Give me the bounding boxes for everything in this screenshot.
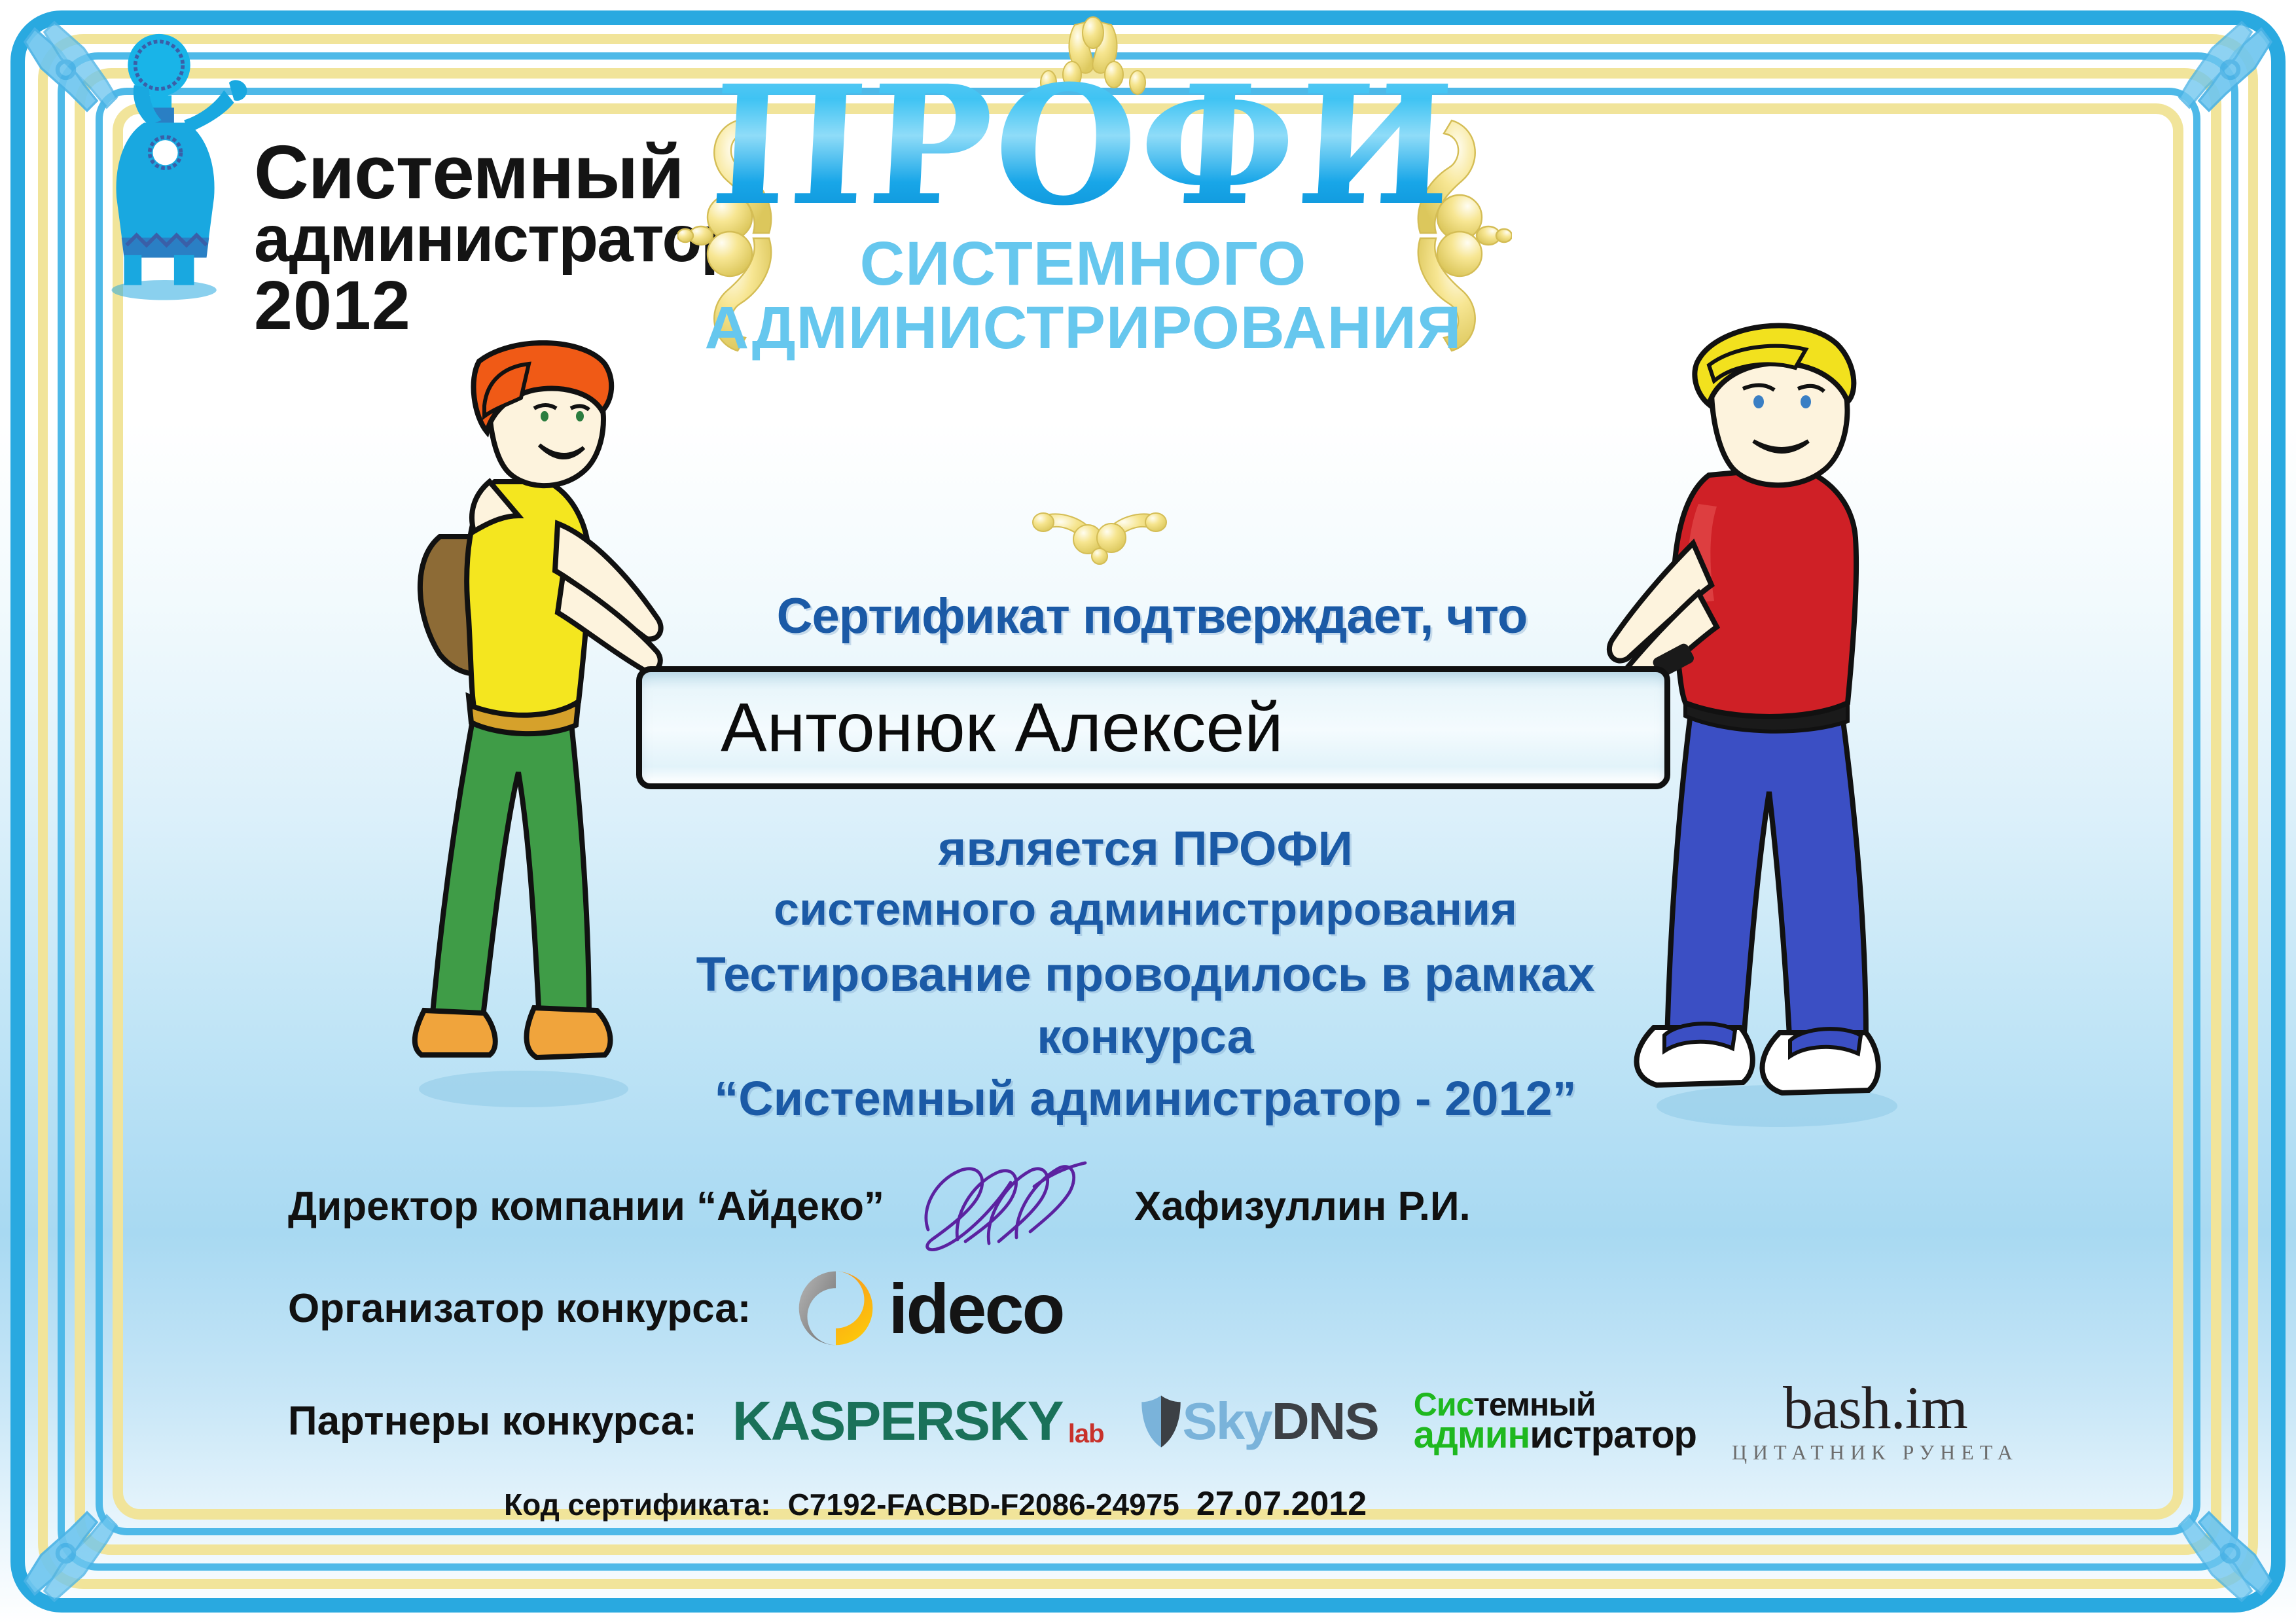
organizer-label: Организатор конкурса: (288, 1285, 751, 1332)
sysadmin-small-row2-black: истратор (1530, 1414, 1696, 1456)
skydns-wordmark-sky: Sky (1183, 1391, 1272, 1452)
certificate-heading: ПРОФИ СИСТЕМНОГО АДМИНИСТРИРОВАНИЯ (661, 62, 1505, 358)
bashim-wordmark: bash.im (1732, 1378, 2018, 1438)
heading-title: ПРОФИ (656, 62, 1509, 229)
pliers-corner-icon (12, 1444, 175, 1607)
confirm-text: Сертификат подтверждает, что (655, 588, 1649, 645)
kaspersky-wordmark: KASPERSKY (732, 1389, 1063, 1453)
signer-name: Хафизуллин Р.И. (1134, 1183, 1471, 1230)
eskimo-figure-icon (98, 33, 275, 308)
body-line-4: “Системный администратор - 2012” (589, 1068, 1702, 1130)
bashim-tagline: ЦИТАТНИК РУНЕТА (1732, 1440, 2018, 1465)
partner-logos: KASPERSKY lab Sky DNS Системный админист… (732, 1378, 2018, 1465)
code-value: C7192-FACBD-F2086-24975 (788, 1487, 1179, 1522)
recipient-name: Антонюк Алексей (642, 688, 1283, 768)
ideco-wordmark: ideco (888, 1268, 1063, 1349)
handwritten-signature-icon (899, 1157, 1115, 1255)
partners-label: Партнеры конкурса: (288, 1398, 697, 1444)
partners-row: Партнеры конкурса: KASPERSKY lab Sky DNS… (288, 1378, 2081, 1465)
body-line-1: является ПРОФИ (589, 818, 1702, 880)
skydns-wordmark-dns: DNS (1272, 1391, 1378, 1452)
kaspersky-lab-suffix: lab (1068, 1419, 1104, 1449)
shield-icon (1139, 1393, 1183, 1450)
recipient-name-box: Антонюк Алексей (636, 666, 1670, 789)
gold-ornament-bottom-icon (1028, 497, 1172, 569)
code-label: Код сертификата: (504, 1487, 771, 1522)
partner-logo-skydns: Sky DNS (1139, 1391, 1378, 1452)
director-signature-row: Директор компании “Айдеко” Хафизуллин Р.… (288, 1157, 1597, 1255)
organizer-row: Организатор конкурса: ideco (288, 1266, 1204, 1350)
certificate-code-row: Код сертификата: C7192-FACBD-F2086-24975… (504, 1484, 1367, 1524)
sysadmin-small-row2-green: админ (1414, 1414, 1530, 1456)
issue-date: 27.07.2012 (1196, 1484, 1367, 1524)
pliers-corner-icon (2121, 16, 2284, 179)
certificate-body: является ПРОФИ системного администрирова… (589, 818, 1702, 1130)
partner-logo-sysadmin: Системный администратор (1414, 1391, 1696, 1452)
certificate-page: Системный администратор 2012 (0, 0, 2296, 1623)
partner-logo-bashim: bash.im ЦИТАТНИК РУНЕТА (1732, 1378, 2018, 1465)
body-line-3: Тестирование проводилось в рамках конкур… (589, 944, 1702, 1067)
heading-subtitle-line2: АДМИНИСТРИРОВАНИЯ (653, 298, 1514, 358)
ideco-logo: ideco (794, 1266, 1063, 1350)
body-line-2: системного администрирования (589, 880, 1702, 939)
partner-logo-kaspersky: KASPERSKY lab (732, 1389, 1104, 1453)
heading-subtitle-line1: СИСТЕМНОГО (661, 233, 1505, 295)
pliers-corner-icon (2121, 1444, 2284, 1607)
director-title: Директор компании “Айдеко” (288, 1183, 884, 1230)
ideco-ring-icon (794, 1266, 878, 1350)
